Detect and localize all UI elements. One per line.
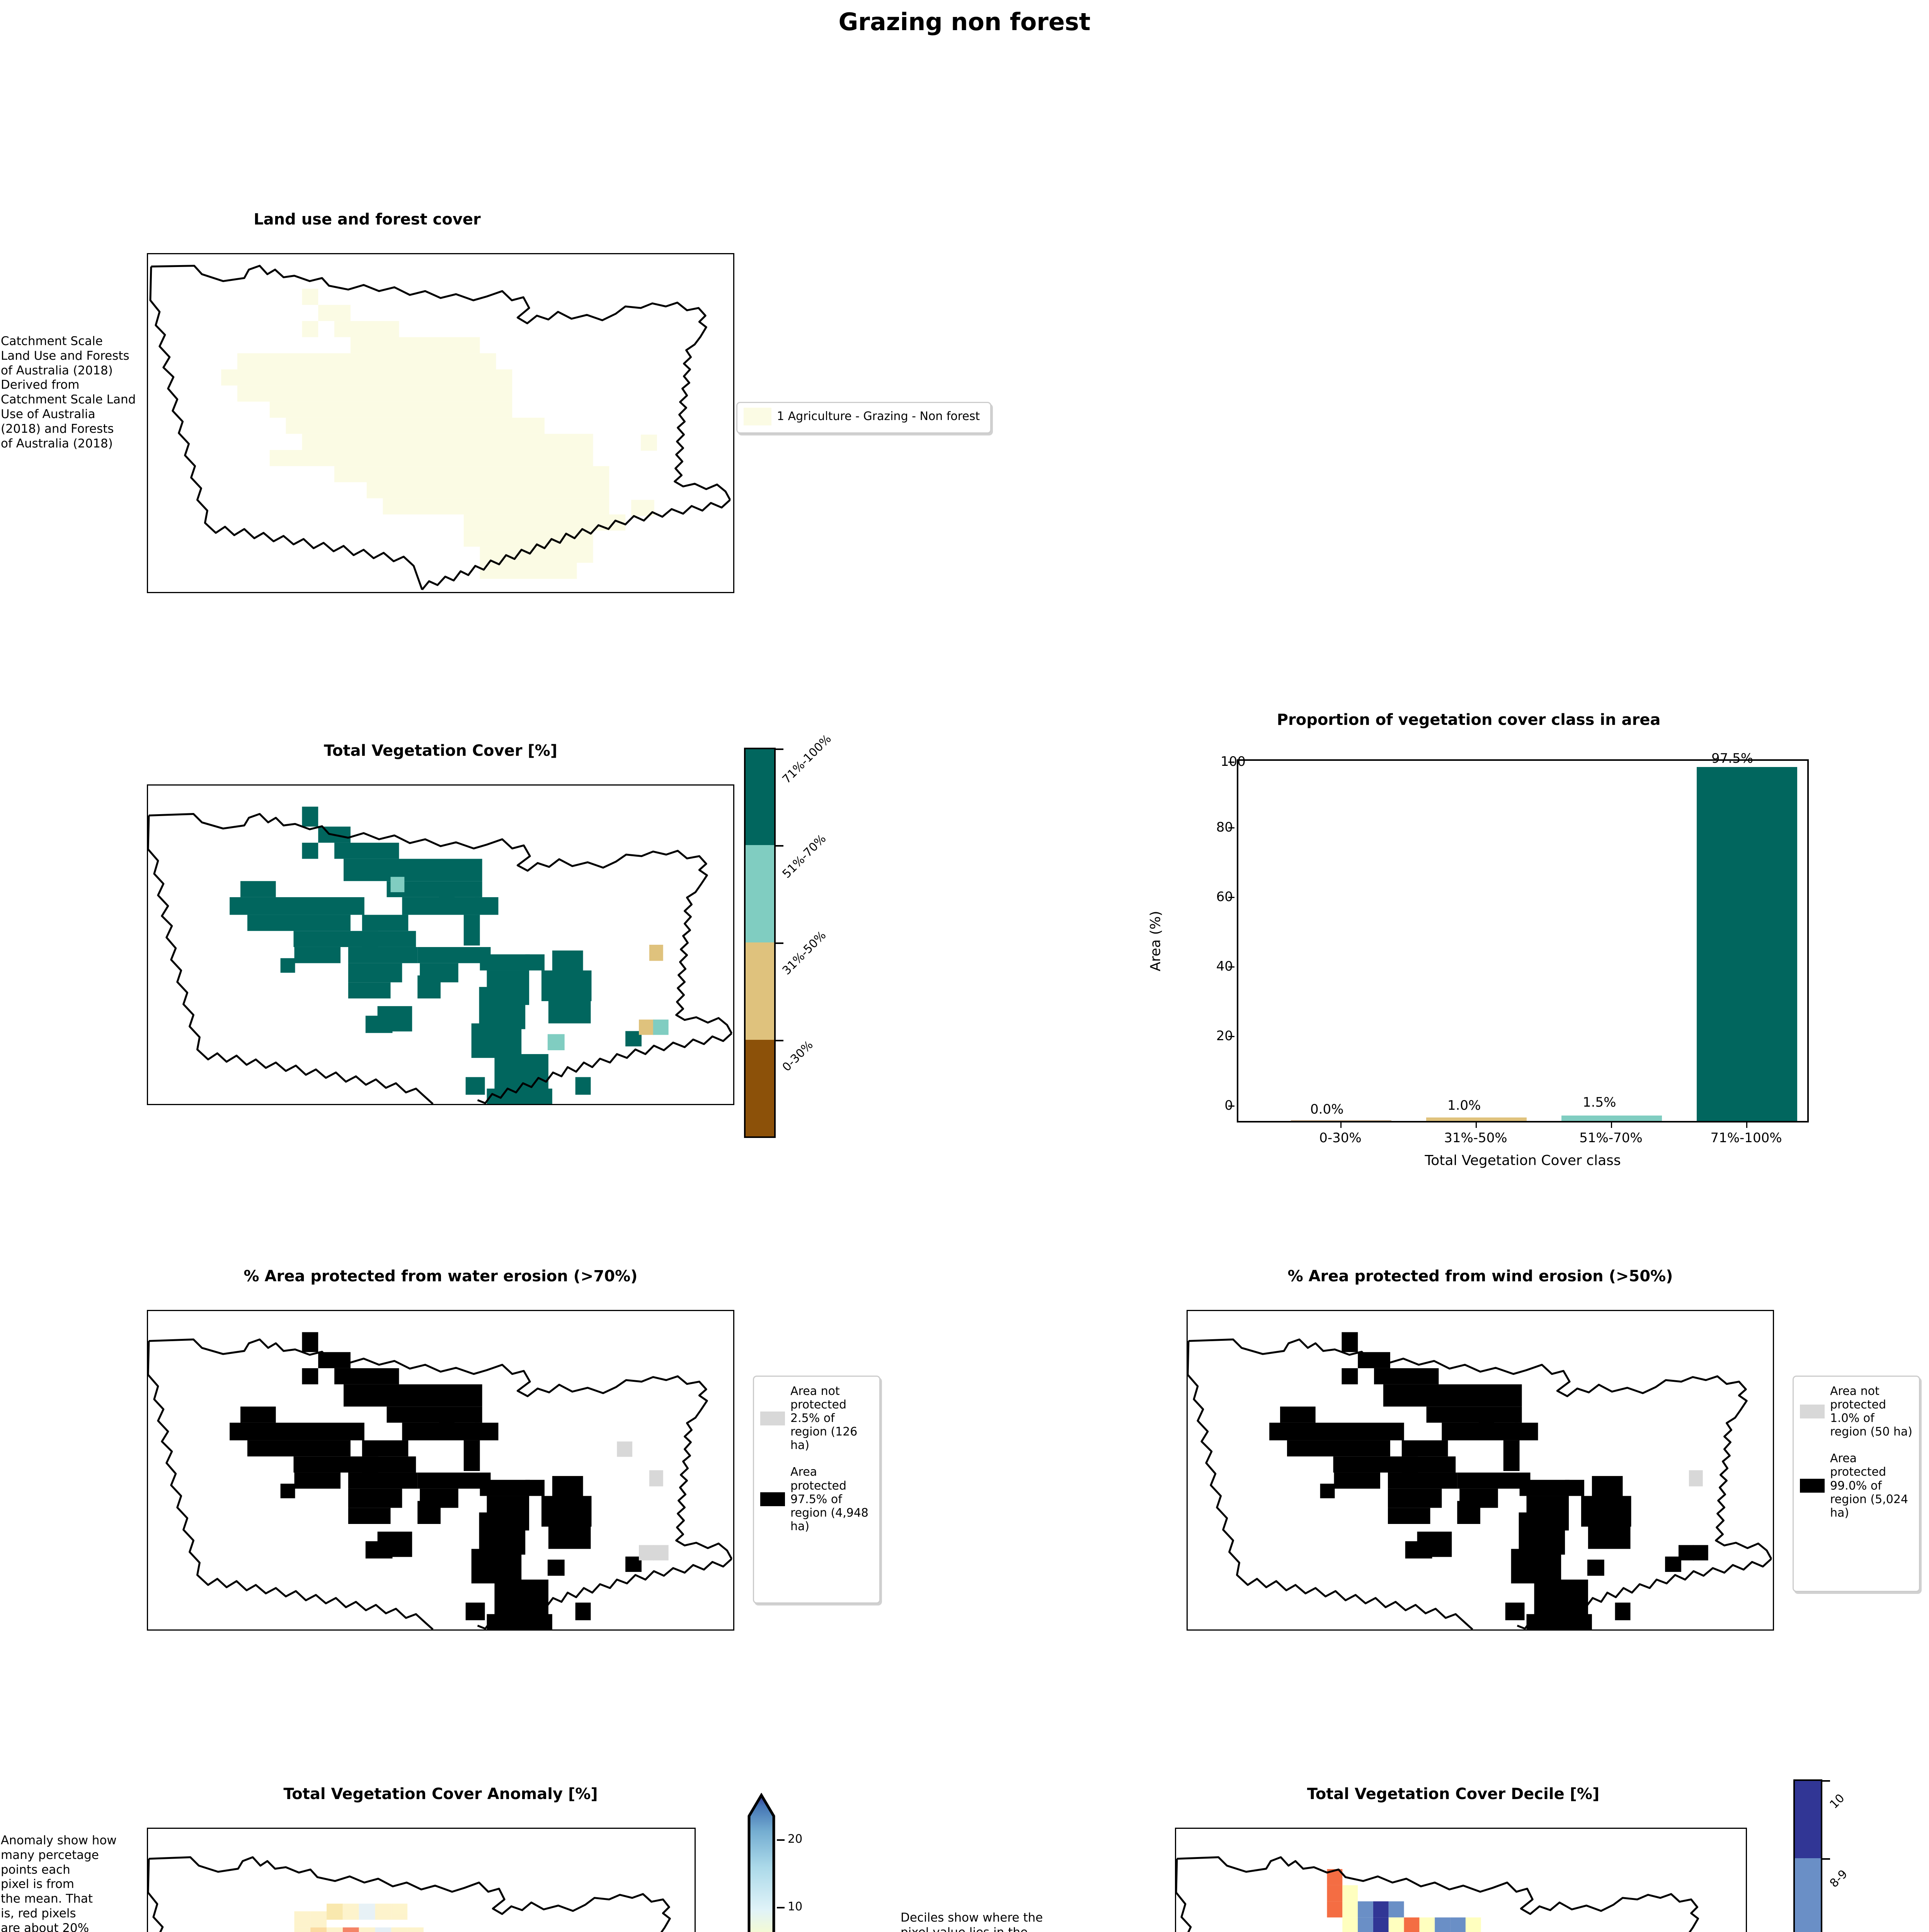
wind-erosion-map — [1187, 1310, 1774, 1631]
decile-panel-title: Total Vegetation Cover Decile [%] — [1159, 1785, 1747, 1803]
list-item: Area protected 99.0% of region (5,024 ha… — [1800, 1452, 1913, 1519]
landuse-sidenote: Catchment Scale Land Use and Forests of … — [1, 334, 148, 451]
wind-erosion-map-svg — [1188, 1311, 1773, 1629]
cbar-decile-10 — [1795, 1781, 1821, 1858]
bar-value-51-70: 1.5% — [1583, 1095, 1616, 1110]
list-item: 1 Agriculture - Grazing - Non forest — [744, 408, 984, 425]
list-item: Area not protected 2.5% of region (126 h… — [760, 1384, 873, 1452]
legend-label: Area protected 99.0% of region (5,024 ha… — [1830, 1452, 1913, 1519]
cbar-label-decile-10: 10 — [1827, 1791, 1847, 1811]
anomaly-colorbar-svg — [746, 1793, 777, 1932]
legend-swatch-grazing-nonforest — [744, 408, 771, 425]
anomaly-tick-10: 10 — [788, 1900, 802, 1913]
veg-cover-map — [147, 784, 734, 1105]
landuse-map — [147, 253, 734, 593]
anomaly-map — [147, 1828, 696, 1932]
water-erosion-panel-title: % Area protected from water erosion (>70… — [147, 1267, 734, 1285]
not-protected-pixels — [1689, 1470, 1703, 1486]
legend-label: Area not protected 1.0% of region (50 ha… — [1830, 1384, 1913, 1439]
wind-erosion-legend[interactable]: Area not protected 1.0% of region (50 ha… — [1793, 1376, 1920, 1592]
decile-pixels — [1251, 1869, 1553, 1932]
anomaly-map-svg — [148, 1829, 695, 1932]
cbar-label-51-70: 51%-70% — [780, 832, 829, 881]
wind-erosion-panel-title: % Area protected from wind erosion (>50%… — [1187, 1267, 1774, 1285]
cbar-class-0-30 — [746, 1040, 774, 1136]
legend-swatch-protected — [1800, 1479, 1825, 1493]
legend-swatch-not-protected — [1800, 1405, 1825, 1418]
decile-map-svg — [1176, 1829, 1746, 1932]
list-item: Area not protected 1.0% of region (50 ha… — [1800, 1384, 1913, 1439]
veg-cover-map-svg — [148, 786, 733, 1104]
cbar-label-decile-8-9: 8-9 — [1827, 1867, 1850, 1890]
anomaly-pixels — [217, 1904, 572, 1932]
bar-31-50[interactable] — [1426, 1117, 1527, 1121]
landuse-pixels — [221, 289, 657, 579]
anomaly-panel-title: Total Vegetation Cover Anomaly [%] — [147, 1785, 734, 1803]
cbar-label-0-30: 0-30% — [780, 1038, 816, 1074]
landuse-panel-title: Land use and forest cover — [147, 211, 587, 228]
bar-0-30[interactable] — [1291, 1121, 1391, 1121]
chart-title: Proportion of vegetation cover class in … — [1121, 711, 1817, 729]
cbar-label-31-50: 31%-50% — [780, 929, 829, 978]
legend-swatch-not-protected — [760, 1412, 785, 1425]
legend-swatch-protected — [760, 1492, 785, 1506]
xtick-71-100: 71%-100% — [1700, 1130, 1793, 1146]
water-erosion-map-svg — [148, 1311, 733, 1629]
cbar-class-51-70 — [746, 845, 774, 942]
xtick-0-30: 0-30% — [1294, 1130, 1387, 1146]
cbar-decile-8-9 — [1795, 1858, 1821, 1932]
bar-chart: 100 80 60 40 20 0 Area (%) 0.0% 1.0% 1.5… — [1121, 752, 1817, 1157]
legend-label: 1 Agriculture - Grazing - Non forest — [777, 410, 980, 423]
anomaly-tick-20: 20 — [788, 1832, 802, 1846]
landuse-legend[interactable]: 1 Agriculture - Grazing - Non forest — [736, 402, 991, 434]
decile-sidenote: Deciles show where the pixel value lies … — [901, 1911, 1098, 1932]
bar-value-31-50: 1.0% — [1447, 1098, 1481, 1113]
cbar-class-71-100 — [746, 749, 774, 845]
bar-51-70[interactable] — [1561, 1116, 1662, 1121]
cbar-label-71-100: 71%-100% — [780, 732, 834, 786]
legend-label: Area protected 97.5% of region (4,948 ha… — [790, 1465, 873, 1533]
page-title: Grazing non forest — [0, 8, 1929, 36]
decile-map — [1175, 1828, 1747, 1932]
landuse-map-svg — [148, 254, 733, 592]
water-erosion-map — [147, 1310, 734, 1631]
water-erosion-legend[interactable]: Area not protected 2.5% of region (126 h… — [753, 1376, 880, 1604]
chart-ylabel: Area (%) — [1148, 883, 1164, 999]
cbar-class-31-50 — [746, 942, 774, 1040]
bar-value-71-100: 97.5% — [1711, 751, 1753, 766]
bar-value-0-30: 0.0% — [1310, 1102, 1343, 1117]
bar-71-100[interactable] — [1697, 767, 1797, 1121]
legend-label: Area not protected 2.5% of region (126 h… — [790, 1384, 873, 1452]
anomaly-sidenote: Anomaly show how many percetage points e… — [1, 1833, 136, 1932]
veg-panel-title: Total Vegetation Cover [%] — [147, 742, 734, 760]
protected-pixels — [230, 1332, 642, 1629]
not-protected-pixels — [617, 1442, 668, 1561]
xtick-31-50: 31%-50% — [1429, 1130, 1522, 1146]
catchment-boundary — [148, 1857, 693, 1932]
list-item: Area protected 97.5% of region (4,948 ha… — [760, 1465, 873, 1533]
xtick-51-70: 51%-70% — [1565, 1130, 1657, 1146]
chart-xlabel: Total Vegetation Cover class — [1237, 1153, 1809, 1168]
